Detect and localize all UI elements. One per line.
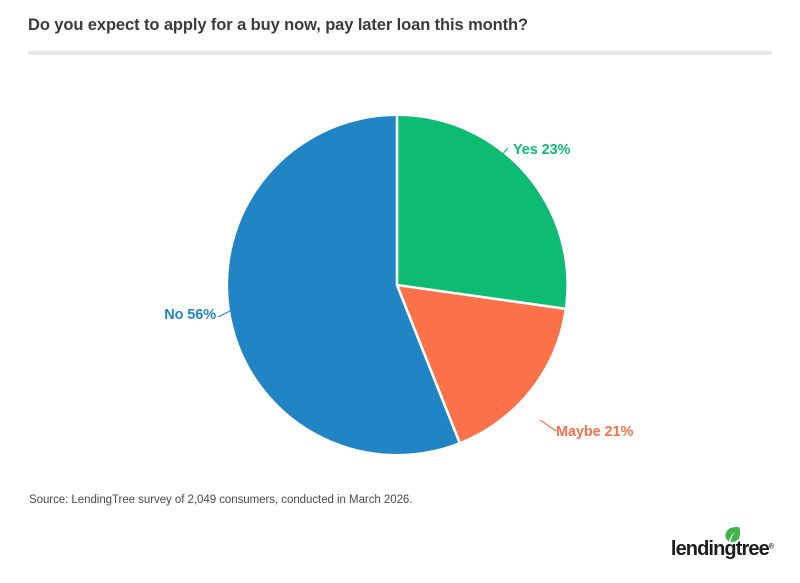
title-divider (28, 51, 772, 55)
brand-logo[interactable]: lendingtree® (671, 530, 774, 560)
pie-chart-svg: Yes 23% Maybe 21% No 56% (0, 60, 800, 480)
source-note: Source: LendingTree survey of 2,049 cons… (29, 494, 412, 506)
leaf-icon (724, 526, 741, 548)
pie-chart: Yes 23% Maybe 21% No 56% (0, 60, 800, 480)
leader-line-maybe (540, 420, 556, 431)
leader-line-no (218, 310, 232, 317)
brand-wordmark: lendingtree (671, 538, 769, 560)
page-title: Do you expect to apply for a buy now, pa… (28, 16, 768, 36)
chart-card: Do you expect to apply for a buy now, pa… (0, 0, 800, 583)
brand-logo-wrap: lendingtree® (671, 539, 774, 560)
pie-label-maybe: Maybe 21% (556, 424, 633, 440)
pie-label-yes: Yes 23% (513, 142, 571, 158)
brand-trademark: ® (769, 544, 774, 551)
pie-label-no: No 56% (164, 307, 216, 323)
